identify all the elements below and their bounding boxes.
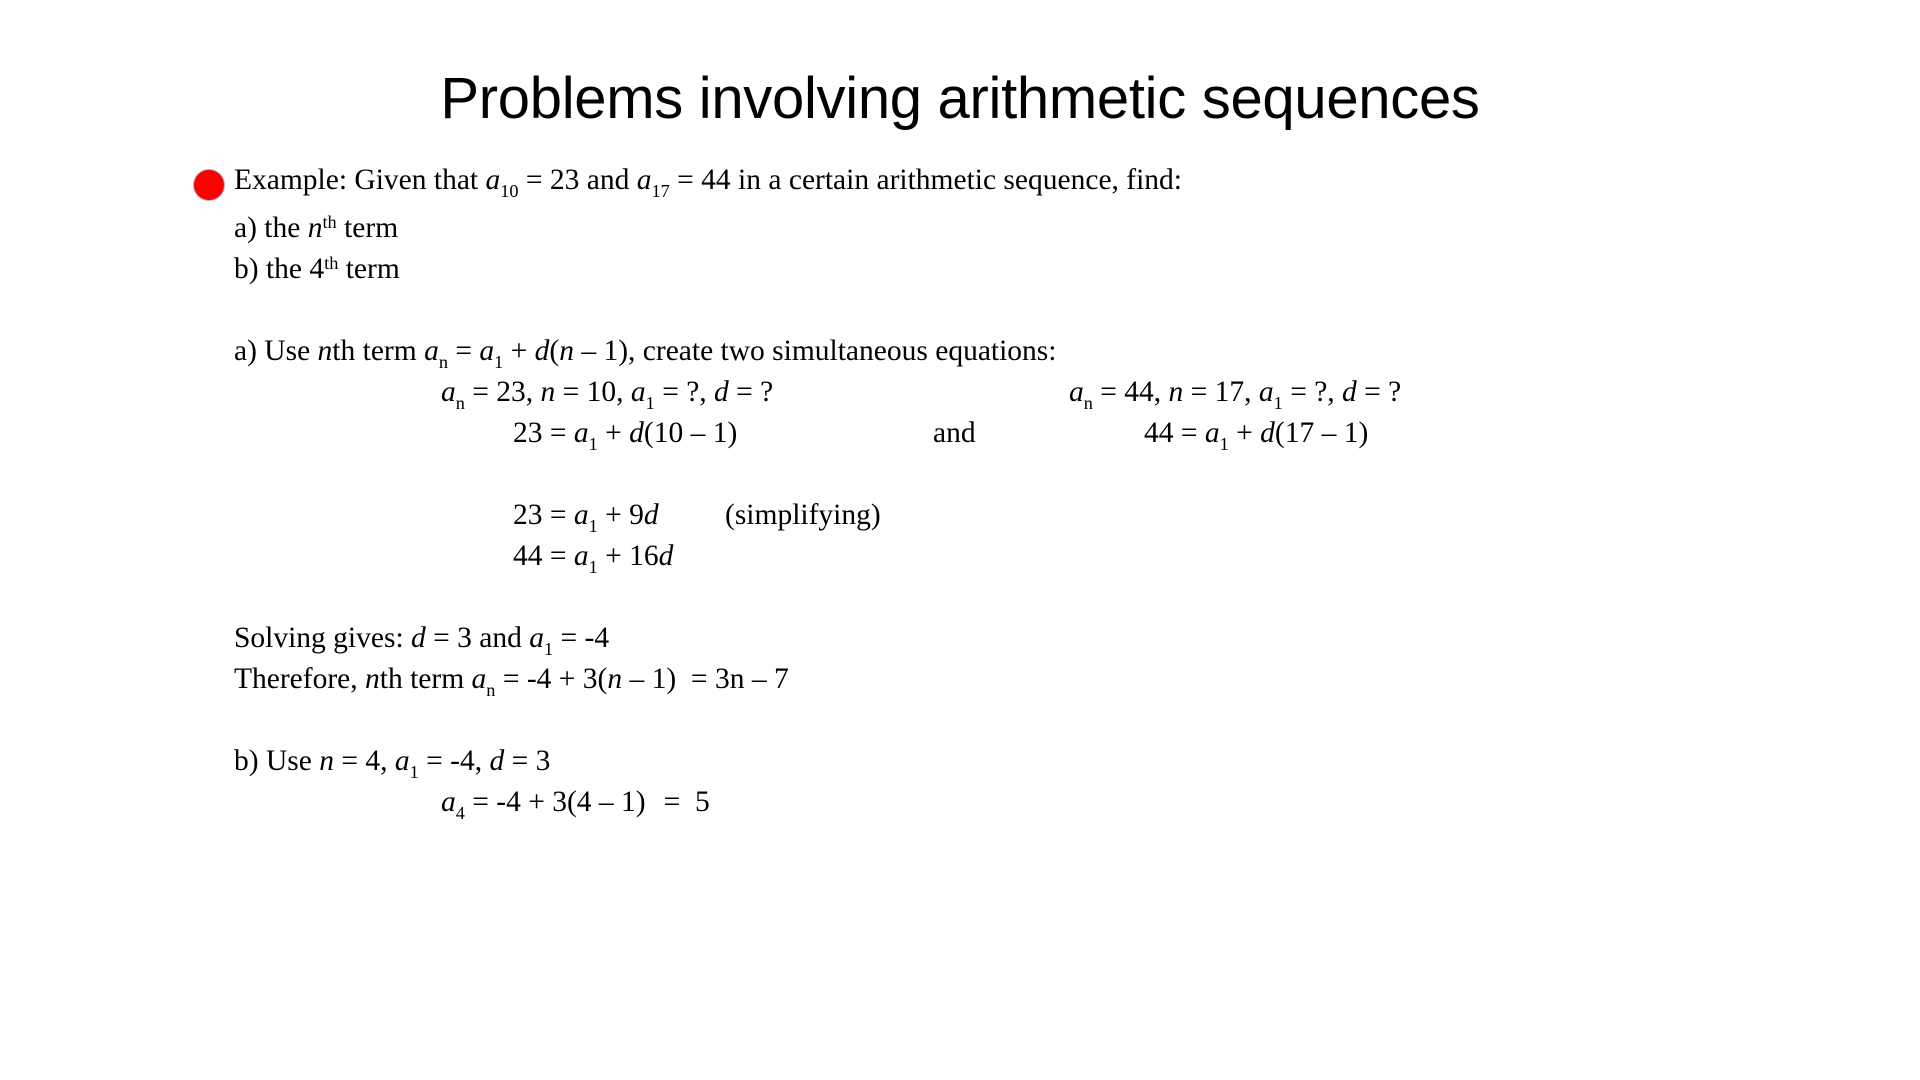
- givens-left-t1: = 23,: [465, 376, 541, 408]
- solution-a1: a: [529, 622, 544, 654]
- spacer-1: [176, 290, 1744, 331]
- equation-left: 23 = a1 + d(10 – 1): [513, 413, 737, 454]
- question-a-variable: n: [308, 212, 323, 244]
- givens-left: an = 23, n = 10, a1 = ?, d = ?: [441, 372, 773, 413]
- question-a-tail: term: [337, 212, 398, 244]
- part-a-intro-seg5: (: [549, 335, 559, 367]
- givens-left-a-sub: n: [456, 393, 465, 413]
- simplified-1-plus: + 9: [598, 499, 644, 531]
- part-b-intro-seg3: = -4,: [419, 745, 490, 777]
- simplified-1-d: d: [644, 499, 659, 531]
- givens-right-a1-sub: 1: [1274, 393, 1283, 413]
- example-suffix: = 44 in a certain arithmetic sequence, f…: [670, 164, 1182, 196]
- givens-left-a1-sub: 1: [646, 393, 655, 413]
- part-a-intro-n2: n: [559, 335, 574, 367]
- part-b-result-a-sub: 4: [456, 803, 465, 823]
- part-a-intro-seg4: +: [503, 335, 534, 367]
- slide-canvas: Problems involving arithmetic sequences …: [176, 0, 1744, 880]
- part-a-intro-seg1: a) Use: [234, 335, 318, 367]
- question-b-tail: term: [338, 253, 399, 285]
- givens-right-t2: = 17,: [1183, 376, 1259, 408]
- simplified-2-d: d: [659, 540, 674, 572]
- page-title: Problems involving arithmetic sequences: [176, 68, 1744, 131]
- givens-right-t3: = ?,: [1283, 376, 1342, 408]
- givens-left-n: n: [541, 376, 556, 408]
- simplifying-note: (simplifying): [725, 495, 881, 536]
- part-b-result: a4 = -4 + 3(4 – 1)= 5: [176, 782, 1744, 823]
- givens-left-a1: a: [631, 376, 646, 408]
- givens-row: an = 23, n = 10, a1 = ?, d = ? an = 44, …: [176, 372, 1744, 413]
- givens-right: an = 44, n = 17, a1 = ?, d = ?: [1069, 372, 1401, 413]
- conclusion-seg2: th term: [380, 663, 472, 695]
- conclusion-line: Therefore, nth term an = -4 + 3(n – 1) =…: [176, 659, 1744, 700]
- part-a-intro-a-sub: n: [439, 352, 448, 372]
- part-b-result-seg2: = 5: [646, 786, 710, 818]
- givens-left-d: d: [714, 376, 729, 408]
- equation-right-rhs: (17 – 1): [1275, 417, 1368, 449]
- simplified-equation-2: 44 = a1 + 16d: [513, 536, 673, 577]
- solution-d: d: [411, 622, 426, 654]
- simplified-1-lhs: 23 =: [513, 499, 574, 531]
- spacer-4: [176, 700, 1744, 741]
- part-a-intro-seg2: th term: [332, 335, 424, 367]
- givens-left-t3: = ?,: [655, 376, 714, 408]
- givens-right-t1: = 44,: [1093, 376, 1169, 408]
- subscript-17: 17: [652, 181, 670, 201]
- solution-line: Solving gives: d = 3 and a1 = -4: [176, 618, 1744, 659]
- part-b-result-a: a: [441, 786, 456, 818]
- equation-left-lhs: 23 =: [513, 417, 574, 449]
- givens-right-a: a: [1069, 376, 1084, 408]
- givens-right-a-sub: n: [1084, 393, 1093, 413]
- slide-body: Example: Given that a10 = 23 and a17 = 4…: [176, 160, 1744, 823]
- simplified-equation-1: 23 = a1 + 9d: [513, 495, 659, 536]
- part-a-intro-n: n: [318, 335, 333, 367]
- conclusion-a: a: [472, 663, 487, 695]
- solution-seg3: = -4: [553, 622, 609, 654]
- equation-left-a1-sub: 1: [589, 434, 598, 454]
- equation-right-a1-sub: 1: [1220, 434, 1229, 454]
- question-b-ordinal: th: [324, 253, 338, 273]
- part-b-intro-d: d: [489, 745, 504, 777]
- equations-row: 23 = a1 + d(10 – 1) and 44 = a1 + d(17 –…: [176, 413, 1744, 454]
- part-b-intro-n: n: [319, 745, 334, 777]
- givens-right-a1: a: [1259, 376, 1274, 408]
- equation-left-plus: +: [598, 417, 629, 449]
- part-b-result-seg1: = -4 + 3(4 – 1): [465, 786, 646, 818]
- simplified-1-a1: a: [574, 499, 589, 531]
- example-prefix: Example: Given that: [234, 164, 486, 196]
- symbol-a10: a: [486, 164, 501, 196]
- equation-right-d: d: [1260, 417, 1275, 449]
- givens-left-a: a: [441, 376, 456, 408]
- part-b-intro-seg1: b) Use: [234, 745, 319, 777]
- simplified-2-a1: a: [574, 540, 589, 572]
- question-b-variable: 4: [309, 253, 324, 285]
- equation-left-rhs: (10 – 1): [644, 417, 737, 449]
- solution-a1-sub: 1: [544, 639, 553, 659]
- simplified-2-plus: + 16: [598, 540, 659, 572]
- example-bullet-row: Example: Given that a10 = 23 and a17 = 4…: [176, 160, 1744, 208]
- part-a-intro-seg6: – 1), create two simultaneous equations:: [574, 335, 1057, 367]
- part-a-intro-a1: a: [479, 335, 494, 367]
- conclusion-n2: n: [607, 663, 622, 695]
- equation-right: 44 = a1 + d(17 – 1): [1144, 413, 1368, 454]
- spacer-3: [176, 577, 1744, 618]
- givens-left-t4: = ?: [729, 376, 773, 408]
- part-a-intro-seg3: =: [448, 335, 479, 367]
- simplified-1-a1-sub: 1: [589, 516, 598, 536]
- part-b-intro-a1-sub: 1: [410, 762, 419, 782]
- givens-right-n: n: [1169, 376, 1184, 408]
- equation-left-a1: a: [574, 417, 589, 449]
- givens-left-t2: = 10,: [555, 376, 631, 408]
- equation-right-plus: +: [1229, 417, 1260, 449]
- example-statement: Example: Given that a10 = 23 and a17 = 4…: [234, 160, 1182, 201]
- givens-right-d: d: [1342, 376, 1357, 408]
- simplified-2-lhs: 44 =: [513, 540, 574, 572]
- solution-seg2: = 3 and: [426, 622, 529, 654]
- simplified-row-1: 23 = a1 + 9d (simplifying): [176, 495, 1744, 536]
- spacer-2: [176, 454, 1744, 495]
- question-a-ordinal: th: [322, 212, 336, 232]
- part-b-intro: b) Use n = 4, a1 = -4, d = 3: [176, 741, 1744, 782]
- givens-right-t4: = ?: [1357, 376, 1401, 408]
- question-a-label: a) the: [234, 212, 308, 244]
- question-b-label: b) the: [234, 253, 309, 285]
- symbol-a17: a: [637, 164, 652, 196]
- equation-left-d: d: [629, 417, 644, 449]
- simplified-row-2: 44 = a1 + 16d: [176, 536, 1744, 577]
- solution-seg1: Solving gives:: [234, 622, 411, 654]
- part-a-intro-a: a: [424, 335, 439, 367]
- conclusion-seg3: = -4 + 3(: [495, 663, 607, 695]
- conclusion-seg4: – 1) = 3n – 7: [622, 663, 789, 695]
- equation-right-a1: a: [1205, 417, 1220, 449]
- part-a-intro-d: d: [535, 335, 550, 367]
- red-circle-bullet-icon: [194, 170, 224, 200]
- part-b-intro-seg2: = 4,: [334, 745, 395, 777]
- example-mid: = 23 and: [519, 164, 637, 196]
- subscript-10: 10: [500, 181, 518, 201]
- part-b-intro-seg4: = 3: [504, 745, 550, 777]
- conclusion-n: n: [365, 663, 380, 695]
- question-a: a) the nth term: [176, 208, 1744, 249]
- simplified-2-a1-sub: 1: [589, 557, 598, 577]
- conclusion-seg1: Therefore,: [234, 663, 365, 695]
- part-a-intro: a) Use nth term an = a1 + d(n – 1), crea…: [176, 331, 1744, 372]
- part-b-intro-a1: a: [395, 745, 410, 777]
- equation-right-lhs: 44 =: [1144, 417, 1205, 449]
- part-a-intro-a1-sub: 1: [494, 352, 503, 372]
- equations-conjunction: and: [933, 413, 976, 454]
- question-b: b) the 4th term: [176, 249, 1744, 290]
- conclusion-a-sub: n: [486, 680, 495, 700]
